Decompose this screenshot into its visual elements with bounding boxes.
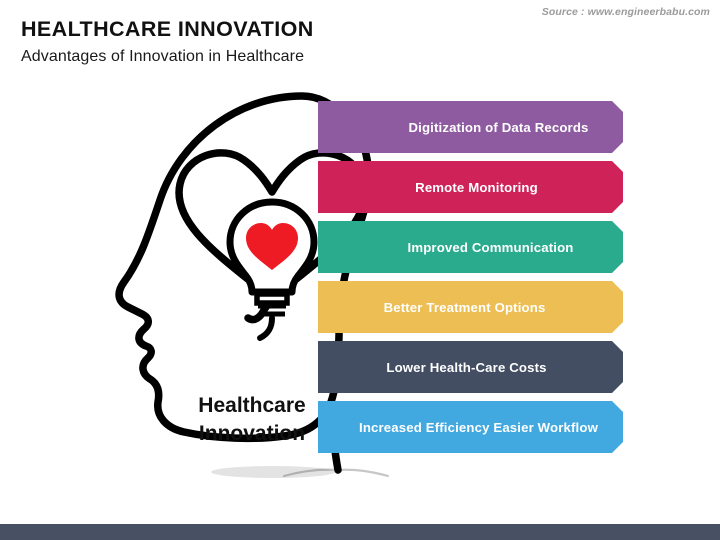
advantage-banner-6[interactable]: Increased Efficiency Easier Workflow <box>318 401 623 453</box>
advantage-banner-5[interactable]: Lower Health-Care Costs <box>318 341 623 393</box>
slide-canvas: Source : www.engineerbabu.com HEALTHCARE… <box>0 0 720 540</box>
advantages-list: Digitization of Data Records Remote Moni… <box>318 101 628 461</box>
advantage-label-6: Increased Efficiency Easier Workflow <box>359 420 598 435</box>
ground-shadow <box>211 466 335 478</box>
page-title: HEALTHCARE INNOVATION <box>21 17 314 42</box>
bulb-cord <box>260 318 272 338</box>
footer-bar <box>0 524 720 540</box>
advantage-label-5: Lower Health-Care Costs <box>386 360 546 375</box>
advantage-label-3: Improved Communication <box>408 240 574 255</box>
advantage-label-4: Better Treatment Options <box>384 300 546 315</box>
advantage-banner-2[interactable]: Remote Monitoring <box>318 161 623 213</box>
advantage-label-2: Remote Monitoring <box>415 180 538 195</box>
advantage-banner-3[interactable]: Improved Communication <box>318 221 623 273</box>
advantage-banner-1[interactable]: Digitization of Data Records <box>318 101 623 153</box>
source-attribution: Source : www.engineerbabu.com <box>542 6 710 18</box>
advantage-label-1: Digitization of Data Records <box>408 120 588 135</box>
page-subtitle: Advantages of Innovation in Healthcare <box>21 48 304 66</box>
bulb-base <box>257 294 287 303</box>
advantage-banner-4[interactable]: Better Treatment Options <box>318 281 623 333</box>
